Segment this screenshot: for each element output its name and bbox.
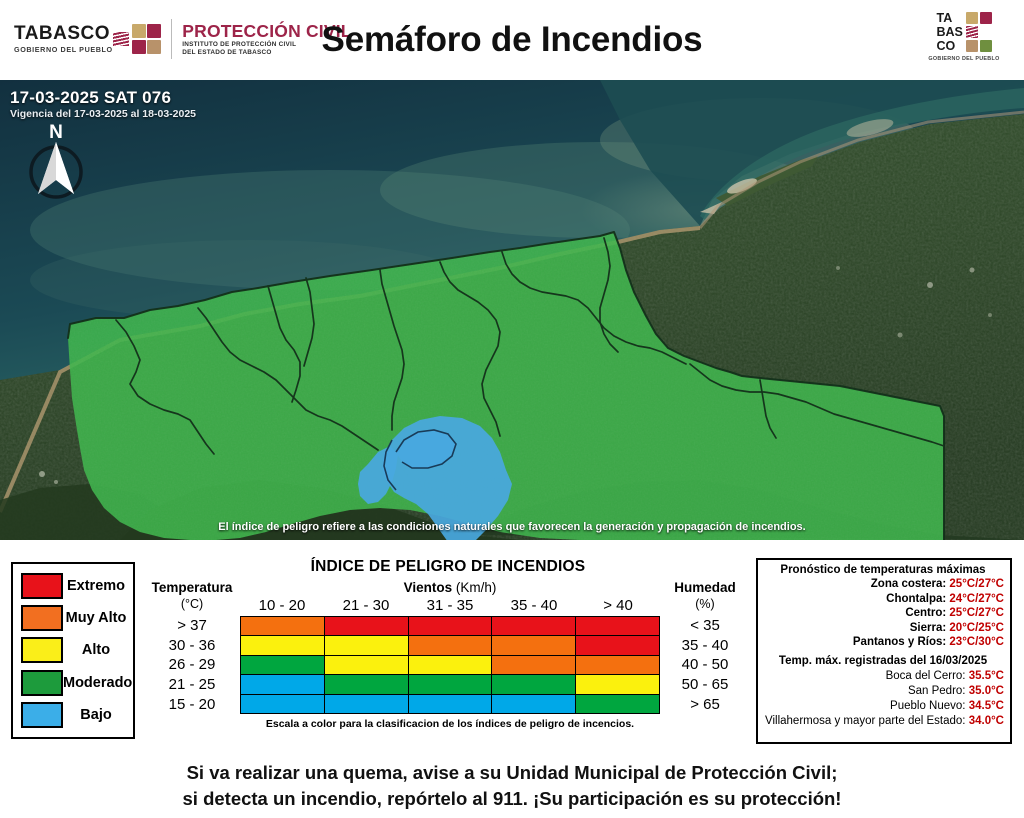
index-cell-bajo — [409, 695, 492, 713]
index-cell-muy_alto — [241, 617, 324, 635]
wind-col-label: 21 - 30 — [324, 597, 408, 614]
humidity-row-label: > 65 — [662, 694, 748, 714]
footer-line-1: Si va realizar una quema, avise a su Uni… — [0, 760, 1024, 786]
index-cell-moderado — [409, 675, 492, 693]
index-cell-alto — [241, 636, 324, 654]
temperature-forecast-panel: Pronóstico de temperaturas máximas Zona … — [756, 558, 1012, 744]
index-cell-moderado — [241, 656, 324, 674]
humidity-row-label: 50 - 65 — [662, 675, 748, 695]
legend-item: Moderado — [17, 668, 129, 698]
logo-square-1-icon — [966, 12, 978, 24]
index-cell-moderado — [325, 675, 408, 693]
humidity-row-label: < 35 — [662, 616, 748, 636]
wind-header: Vientos (Km/h) — [240, 580, 660, 595]
legend-item: Muy Alto — [17, 603, 129, 633]
page-header: TABASCO GOBIERNO DEL PUEBLO PROTECCIÓN C… — [0, 0, 1024, 80]
wind-column-labels: 10 - 20 21 - 30 31 - 35 35 - 40 > 40 — [240, 597, 660, 614]
forecast-row: Chontalpa: 24°C/27°C — [762, 592, 1004, 607]
index-cell-moderado — [492, 675, 575, 693]
footer-line-2: si detecta un incendio, repórtelo al 911… — [0, 786, 1024, 812]
legend-label-alto: Alto — [63, 642, 129, 658]
index-table-title: ÍNDICE DE PELIGRO DE INCENDIOS — [148, 558, 748, 576]
legend-item: Bajo — [17, 700, 129, 730]
humidity-row-label: 35 - 40 — [662, 636, 748, 656]
temperature-header-label: Temperatura — [152, 580, 233, 595]
index-cell-muy_alto — [492, 636, 575, 654]
forecast-zone: Pantanos y Ríos: — [853, 636, 946, 648]
recorded-station: Villahermosa y mayor parte del Estado: — [765, 715, 966, 727]
index-cell-bajo — [241, 695, 324, 713]
forecast-row: Sierra: 20°C/25°C — [762, 621, 1004, 636]
legend-label-bajo: Bajo — [63, 707, 129, 723]
index-cell-extremo — [492, 617, 575, 635]
index-cell-muy_alto — [576, 656, 659, 674]
index-cell-bajo — [241, 675, 324, 693]
index-cell-muy_alto — [492, 656, 575, 674]
forecast-row: Centro: 25°C/27°C — [762, 606, 1004, 621]
tabasco-logo-line-3: CO — [937, 40, 965, 53]
index-cell-muy_alto — [409, 636, 492, 654]
forecast-zone: Chontalpa: — [886, 593, 946, 605]
forecast-zone: Sierra: — [910, 622, 946, 634]
temp-row-label: 26 - 29 — [146, 655, 238, 675]
tabasco-gov-logo: TA BAS CO GOBIERNO DEL PUEBLO — [920, 11, 1008, 69]
index-cell-alto — [409, 656, 492, 674]
temperature-header: Temperatura (°C) — [146, 580, 238, 612]
logo-square-4-icon — [966, 40, 978, 52]
map-validity-text: Vigencia del 17-03-2025 al 18-03-2025 — [10, 108, 196, 120]
wind-col-label: > 40 — [576, 597, 660, 614]
index-scale-note: Escala a color para la clasificacion de … — [200, 718, 700, 730]
forecast-zone: Centro: — [905, 607, 946, 619]
map-graphic — [0, 80, 1024, 540]
temperature-row-labels: > 37 30 - 36 26 - 29 21 - 25 15 - 20 — [146, 616, 238, 714]
temperature-header-unit: (°C) — [146, 596, 238, 612]
temp-row-label: 15 - 20 — [146, 694, 238, 714]
humidity-header-label: Humedad — [674, 580, 736, 595]
index-cell-extremo — [409, 617, 492, 635]
tabasco-logo-footer: GOBIERNO DEL PUEBLO — [928, 56, 999, 62]
index-cell-bajo — [325, 695, 408, 713]
forecast-value: 25°C/27°C — [949, 607, 1004, 619]
tabasco-logo-line-1: TA — [937, 12, 965, 25]
risk-legend: Extremo Muy Alto Alto Moderado Bajo — [11, 562, 135, 739]
forecast-zone: Zona costera: — [871, 578, 946, 590]
index-cell-extremo — [576, 617, 659, 635]
map-disclaimer-note: El índice de peligro refiere a las condi… — [0, 521, 1024, 533]
temp-row-label: 30 - 36 — [146, 636, 238, 656]
satellite-fire-risk-map[interactable]: 17-03-2025 SAT 076 Vigencia del 17-03-20… — [0, 80, 1024, 540]
forecast-value: 23°C/30°C — [949, 636, 1004, 648]
fire-danger-index-grid — [240, 616, 660, 714]
temp-row-label: > 37 — [146, 616, 238, 636]
legend-swatch-bajo — [21, 702, 63, 728]
page-footer: Si va realizar una quema, avise a su Uni… — [0, 760, 1024, 818]
lower-panels: Extremo Muy Alto Alto Moderado Bajo ÍNDI… — [0, 540, 1024, 758]
humidity-header-unit: (%) — [662, 596, 748, 612]
forecast-row: Zona costera: 25°C/27°C — [762, 577, 1004, 592]
humidity-header: Humedad (%) — [662, 580, 748, 612]
forecast-row: Pantanos y Ríos: 23°C/30°C — [762, 635, 1004, 650]
recorded-row: San Pedro: 35.0°C — [762, 684, 1004, 699]
forecast-value: 20°C/25°C — [949, 622, 1004, 634]
compass-north-label: N — [49, 122, 63, 143]
forecast-value: 24°C/27°C — [949, 593, 1004, 605]
index-cell-alto — [576, 675, 659, 693]
recorded-station: San Pedro: — [908, 685, 966, 697]
page-title: Semáforo de Incendios — [0, 20, 1024, 60]
index-cell-alto — [325, 636, 408, 654]
logo-square-2-icon — [980, 12, 992, 24]
legend-label-moderado: Moderado — [63, 675, 132, 691]
index-cell-bajo — [492, 695, 575, 713]
legend-swatch-muy-alto — [21, 605, 63, 631]
humidity-row-labels: < 35 35 - 40 40 - 50 50 - 65 > 65 — [662, 616, 748, 714]
legend-item: Alto — [17, 635, 129, 665]
recorded-value: 35.0°C — [969, 685, 1004, 697]
north-arrow-icon: N — [18, 120, 94, 202]
wind-col-label: 35 - 40 — [492, 597, 576, 614]
wind-header-unit: (Km/h) — [456, 580, 497, 595]
legend-swatch-extremo — [21, 573, 63, 599]
legend-swatch-alto — [21, 637, 63, 663]
recorded-value: 35.5°C — [969, 670, 1004, 682]
recorded-row: Villahermosa y mayor parte del Estado: 3… — [762, 714, 1004, 729]
forecast-title: Pronóstico de temperaturas máximas — [762, 564, 1004, 576]
recorded-temps-title: Temp. máx. registradas del 16/03/2025 — [762, 655, 1004, 667]
temp-row-label: 21 - 25 — [146, 675, 238, 695]
logo-square-5-icon — [980, 40, 992, 52]
index-cell-moderado — [576, 695, 659, 713]
tabasco-logo-line-2: BAS — [937, 26, 965, 39]
logo-square-3-icon — [966, 26, 978, 38]
recorded-value: 34.0°C — [969, 715, 1004, 727]
legend-label-muy-alto: Muy Alto — [63, 610, 129, 626]
recorded-station: Boca del Cerro: — [886, 670, 966, 682]
wind-header-label: Vientos — [404, 580, 453, 595]
legend-swatch-moderado — [21, 670, 63, 696]
legend-item: Extremo — [17, 571, 129, 601]
humidity-row-label: 40 - 50 — [662, 655, 748, 675]
map-date-code: 17-03-2025 SAT 076 — [10, 88, 171, 108]
recorded-row: Boca del Cerro: 35.5°C — [762, 669, 1004, 684]
legend-label-extremo: Extremo — [63, 578, 129, 594]
wind-col-label: 31 - 35 — [408, 597, 492, 614]
index-cell-extremo — [576, 636, 659, 654]
wind-col-label: 10 - 20 — [240, 597, 324, 614]
forecast-value: 25°C/27°C — [949, 578, 1004, 590]
recorded-value: 34.5°C — [969, 700, 1004, 712]
recorded-row: Pueblo Nuevo: 34.5°C — [762, 699, 1004, 714]
recorded-station: Pueblo Nuevo: — [890, 700, 965, 712]
index-cell-alto — [325, 656, 408, 674]
index-cell-extremo — [325, 617, 408, 635]
